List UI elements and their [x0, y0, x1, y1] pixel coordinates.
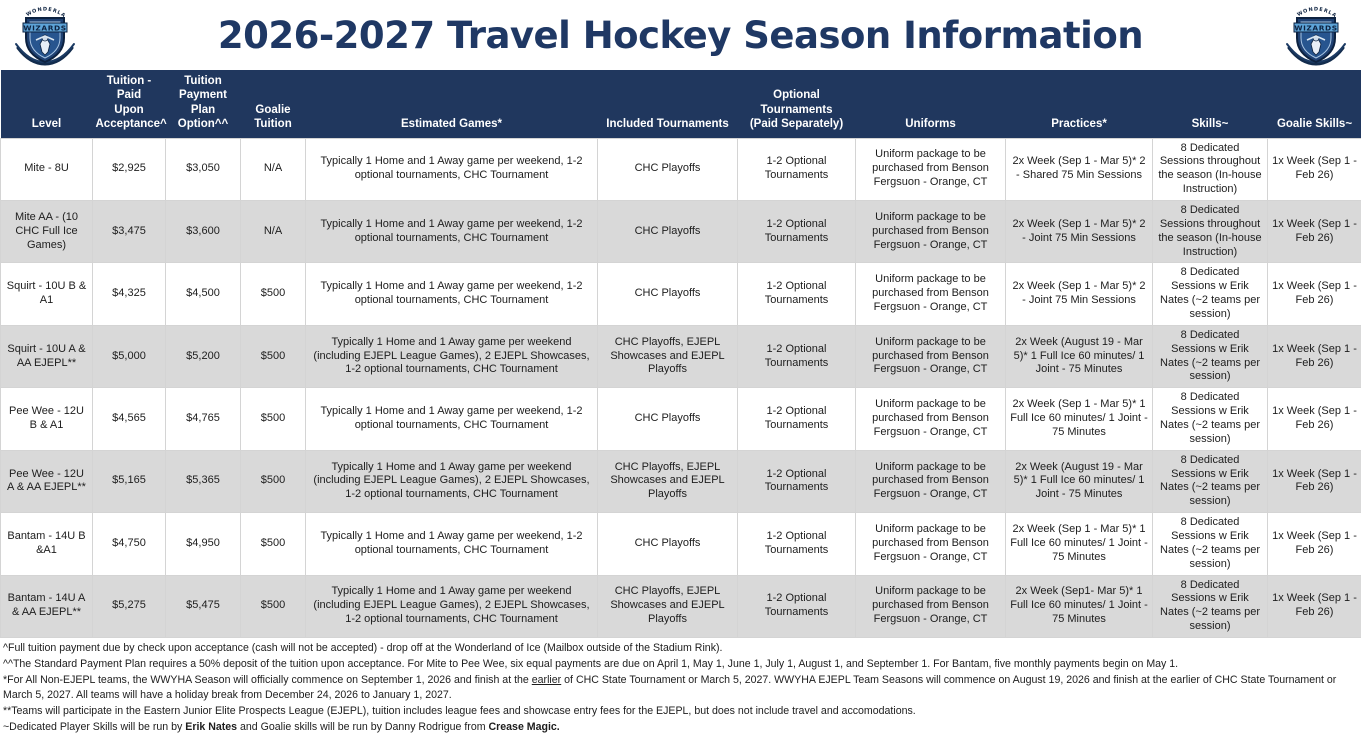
table-row: Squirt - 10U B & A1$4,325$4,500$500Typic… [1, 263, 1361, 325]
cell-level: Mite AA - (10 CHC Full Ice Games) [1, 200, 93, 262]
cell-goalie-skills: 1x Week (Sep 1 - Feb 26) [1268, 138, 1361, 200]
col-header-included-tournaments: Included Tournaments [598, 70, 738, 138]
col-header-level: Level [1, 70, 93, 138]
cell-uniforms: Uniform package to be purchased from Ben… [856, 575, 1006, 637]
season-info-table: Level Tuition - PaidUponAcceptance^ Tuit… [0, 70, 1361, 638]
cell-optional-tournaments: 1-2 Optional Tournaments [738, 575, 856, 637]
col-header-line: Skills~ [1156, 117, 1265, 131]
table-row: Pee Wee - 12U A & AA EJEPL**$5,165$5,365… [1, 450, 1361, 512]
cell-optional-tournaments: 1-2 Optional Tournaments [738, 138, 856, 200]
cell-tuition-plan: $5,475 [166, 575, 241, 637]
wonderland-wizards-logo-left: WONDERLAND WIZARDS [12, 4, 78, 66]
col-header-line: Option^^ [169, 117, 238, 131]
cell-level: Bantam - 14U B &A1 [1, 513, 93, 575]
cell-practices: 2x Week (Sep 1 - Mar 5)* 1 Full Ice 60 m… [1006, 388, 1153, 450]
table-row: Mite - 8U$2,925$3,050N/ATypically 1 Home… [1, 138, 1361, 200]
cell-estimated-games: Typically 1 Home and 1 Away game per wee… [306, 575, 598, 637]
cell-uniforms: Uniform package to be purchased from Ben… [856, 263, 1006, 325]
cell-goalie-tuition: $500 [241, 325, 306, 387]
cell-tuition-plan: $3,050 [166, 138, 241, 200]
col-header-line: Upon [96, 103, 163, 117]
cell-goalie-skills: 1x Week (Sep 1 - Feb 26) [1268, 513, 1361, 575]
cell-uniforms: Uniform package to be purchased from Ben… [856, 325, 1006, 387]
cell-skills: 8 Dedicated Sessions w Erik Nates (~2 te… [1153, 263, 1268, 325]
cell-tuition-acceptance: $4,325 [93, 263, 166, 325]
col-header-tuition-acceptance: Tuition - PaidUponAcceptance^ [93, 70, 166, 138]
cell-practices: 2x Week (August 19 - Mar 5)* 1 Full Ice … [1006, 450, 1153, 512]
cell-included-tournaments: CHC Playoffs [598, 138, 738, 200]
cell-skills: 8 Dedicated Sessions w Erik Nates (~2 te… [1153, 513, 1268, 575]
cell-goalie-tuition: $500 [241, 450, 306, 512]
svg-text:WIZARDS: WIZARDS [23, 23, 66, 32]
cell-goalie-skills: 1x Week (Sep 1 - Feb 26) [1268, 575, 1361, 637]
cell-skills: 8 Dedicated Sessions w Erik Nates (~2 te… [1153, 450, 1268, 512]
cell-uniforms: Uniform package to be purchased from Ben… [856, 450, 1006, 512]
cell-included-tournaments: CHC Playoffs [598, 388, 738, 450]
col-header-line: Acceptance^ [96, 117, 163, 131]
cell-practices: 2x Week (Sep 1 - Mar 5)* 2 - Shared 75 M… [1006, 138, 1153, 200]
col-header-line: (Paid Separately) [741, 117, 853, 131]
cell-level: Mite - 8U [1, 138, 93, 200]
cell-level: Squirt - 10U A & AA EJEPL** [1, 325, 93, 387]
col-header-tuition-plan: TuitionPayment PlanOption^^ [166, 70, 241, 138]
cell-tuition-acceptance: $4,565 [93, 388, 166, 450]
cell-practices: 2x Week (Sep 1 - Mar 5)* 1 Full Ice 60 m… [1006, 513, 1153, 575]
cell-optional-tournaments: 1-2 Optional Tournaments [738, 263, 856, 325]
cell-goalie-tuition: $500 [241, 575, 306, 637]
col-header-optional-tournaments: Optional Tournaments(Paid Separately) [738, 70, 856, 138]
cell-tuition-acceptance: $2,925 [93, 138, 166, 200]
table-row: Squirt - 10U A & AA EJEPL**$5,000$5,200$… [1, 325, 1361, 387]
cell-uniforms: Uniform package to be purchased from Ben… [856, 513, 1006, 575]
cell-goalie-skills: 1x Week (Sep 1 - Feb 26) [1268, 325, 1361, 387]
cell-tuition-plan: $4,950 [166, 513, 241, 575]
col-header-uniforms: Uniforms [856, 70, 1006, 138]
cell-included-tournaments: CHC Playoffs, EJEPL Showcases and EJEPL … [598, 325, 738, 387]
cell-estimated-games: Typically 1 Home and 1 Away game per wee… [306, 513, 598, 575]
footnotes: ^Full tuition payment due by check upon … [0, 638, 1361, 735]
cell-tuition-acceptance: $5,165 [93, 450, 166, 512]
page-header: WONDERLAND WIZARDS 2026-2027 Travel Hock… [0, 0, 1361, 70]
footnote-payment-plan: ^^The Standard Payment Plan requires a 5… [3, 657, 1358, 672]
col-header-line: Goalie [244, 103, 303, 117]
cell-practices: 2x Week (Sep 1 - Mar 5)* 2 - Joint 75 Mi… [1006, 200, 1153, 262]
table-row: Pee Wee - 12U B & A1$4,565$4,765$500Typi… [1, 388, 1361, 450]
table-body: Mite - 8U$2,925$3,050N/ATypically 1 Home… [1, 138, 1361, 638]
col-header-line: Practices* [1009, 117, 1150, 131]
footnote-earlier-emphasis: earlier [532, 674, 561, 686]
col-header-practices: Practices* [1006, 70, 1153, 138]
cell-level: Squirt - 10U B & A1 [1, 263, 93, 325]
table-header-row: Level Tuition - PaidUponAcceptance^ Tuit… [1, 70, 1361, 138]
table-row: Mite AA - (10 CHC Full Ice Games)$3,475$… [1, 200, 1361, 262]
cell-estimated-games: Typically 1 Home and 1 Away game per wee… [306, 388, 598, 450]
col-header-skills: Skills~ [1153, 70, 1268, 138]
cell-goalie-skills: 1x Week (Sep 1 - Feb 26) [1268, 263, 1361, 325]
cell-level: Pee Wee - 12U B & A1 [1, 388, 93, 450]
col-header-line: Tuition - Paid [96, 74, 163, 103]
cell-optional-tournaments: 1-2 Optional Tournaments [738, 450, 856, 512]
cell-level: Pee Wee - 12U A & AA EJEPL** [1, 450, 93, 512]
cell-included-tournaments: CHC Playoffs, EJEPL Showcases and EJEPL … [598, 575, 738, 637]
cell-estimated-games: Typically 1 Home and 1 Away game per wee… [306, 263, 598, 325]
cell-goalie-tuition: N/A [241, 138, 306, 200]
cell-tuition-acceptance: $3,475 [93, 200, 166, 262]
cell-tuition-plan: $5,200 [166, 325, 241, 387]
page-title: 2026-2027 Travel Hockey Season Informati… [218, 14, 1143, 57]
cell-level: Bantam - 14U A & AA EJEPL** [1, 575, 93, 637]
cell-practices: 2x Week (August 19 - Mar 5)* 1 Full Ice … [1006, 325, 1153, 387]
cell-skills: 8 Dedicated Sessions throughout the seas… [1153, 138, 1268, 200]
footnote-skills-part1: ~Dedicated Player Skills will be run by [3, 721, 185, 733]
footnote-skills-part2: and Goalie skills will be run by Danny R… [237, 721, 488, 733]
cell-practices: 2x Week (Sep 1 - Mar 5)* 2 - Joint 75 Mi… [1006, 263, 1153, 325]
cell-included-tournaments: CHC Playoffs [598, 200, 738, 262]
cell-estimated-games: Typically 1 Home and 1 Away game per wee… [306, 138, 598, 200]
cell-practices: 2x Week (Sep1- Mar 5)* 1 Full Ice 60 min… [1006, 575, 1153, 637]
cell-tuition-plan: $4,765 [166, 388, 241, 450]
cell-optional-tournaments: 1-2 Optional Tournaments [738, 325, 856, 387]
col-header-line: Included Tournaments [601, 117, 735, 131]
cell-tuition-plan: $4,500 [166, 263, 241, 325]
season-info-page: WONDERLAND WIZARDS 2026-2027 Travel Hock… [0, 0, 1361, 666]
cell-goalie-skills: 1x Week (Sep 1 - Feb 26) [1268, 200, 1361, 262]
cell-uniforms: Uniform package to be purchased from Ben… [856, 200, 1006, 262]
cell-estimated-games: Typically 1 Home and 1 Away game per wee… [306, 200, 598, 262]
wonderland-wizards-logo-right: WONDERLAND WIZARDS [1283, 4, 1349, 66]
cell-goalie-tuition: $500 [241, 388, 306, 450]
col-header-line: Goalie Skills~ [1271, 117, 1359, 131]
footnote-season-dates: *For All Non-EJEPL teams, the WWYHA Seas… [3, 673, 1358, 703]
footnote-skills-instructors: ~Dedicated Player Skills will be run by … [3, 720, 1358, 735]
cell-goalie-skills: 1x Week (Sep 1 - Feb 26) [1268, 450, 1361, 512]
col-header-line: Tuition [169, 74, 238, 88]
cell-goalie-skills: 1x Week (Sep 1 - Feb 26) [1268, 388, 1361, 450]
cell-skills: 8 Dedicated Sessions throughout the seas… [1153, 200, 1268, 262]
footnote-erik-nates: Erik Nates [185, 721, 237, 733]
cell-uniforms: Uniform package to be purchased from Ben… [856, 388, 1006, 450]
col-header-line: Tuition [244, 117, 303, 131]
svg-text:WIZARDS: WIZARDS [1294, 23, 1337, 32]
cell-optional-tournaments: 1-2 Optional Tournaments [738, 513, 856, 575]
cell-uniforms: Uniform package to be purchased from Ben… [856, 138, 1006, 200]
cell-estimated-games: Typically 1 Home and 1 Away game per wee… [306, 325, 598, 387]
cell-optional-tournaments: 1-2 Optional Tournaments [738, 200, 856, 262]
footnote-ejepl: **Teams will participate in the Eastern … [3, 704, 1358, 719]
col-header-line: Estimated Games* [309, 117, 595, 131]
cell-skills: 8 Dedicated Sessions w Erik Nates (~2 te… [1153, 575, 1268, 637]
table-row: Bantam - 14U B &A1$4,750$4,950$500Typica… [1, 513, 1361, 575]
cell-skills: 8 Dedicated Sessions w Erik Nates (~2 te… [1153, 388, 1268, 450]
col-header-estimated-games: Estimated Games* [306, 70, 598, 138]
col-header-goalie-skills: Goalie Skills~ [1268, 70, 1361, 138]
footnote-crease-magic: Crease Magic. [489, 721, 560, 733]
table-row: Bantam - 14U A & AA EJEPL**$5,275$5,475$… [1, 575, 1361, 637]
footnote-season-dates-part1: *For All Non-EJEPL teams, the WWYHA Seas… [3, 674, 532, 686]
cell-estimated-games: Typically 1 Home and 1 Away game per wee… [306, 450, 598, 512]
cell-goalie-tuition: $500 [241, 513, 306, 575]
cell-goalie-tuition: $500 [241, 263, 306, 325]
cell-tuition-acceptance: $5,275 [93, 575, 166, 637]
cell-included-tournaments: CHC Playoffs [598, 513, 738, 575]
footnote-full-tuition: ^Full tuition payment due by check upon … [3, 641, 1358, 656]
col-header-line: Level [4, 117, 90, 131]
col-header-line: Optional Tournaments [741, 88, 853, 117]
cell-included-tournaments: CHC Playoffs [598, 263, 738, 325]
cell-tuition-acceptance: $5,000 [93, 325, 166, 387]
cell-goalie-tuition: N/A [241, 200, 306, 262]
cell-tuition-acceptance: $4,750 [93, 513, 166, 575]
col-header-line: Payment Plan [169, 88, 238, 117]
cell-included-tournaments: CHC Playoffs, EJEPL Showcases and EJEPL … [598, 450, 738, 512]
cell-tuition-plan: $3,600 [166, 200, 241, 262]
col-header-goalie-tuition: GoalieTuition [241, 70, 306, 138]
col-header-line: Uniforms [859, 117, 1003, 131]
cell-optional-tournaments: 1-2 Optional Tournaments [738, 388, 856, 450]
cell-tuition-plan: $5,365 [166, 450, 241, 512]
cell-skills: 8 Dedicated Sessions w Erik Nates (~2 te… [1153, 325, 1268, 387]
